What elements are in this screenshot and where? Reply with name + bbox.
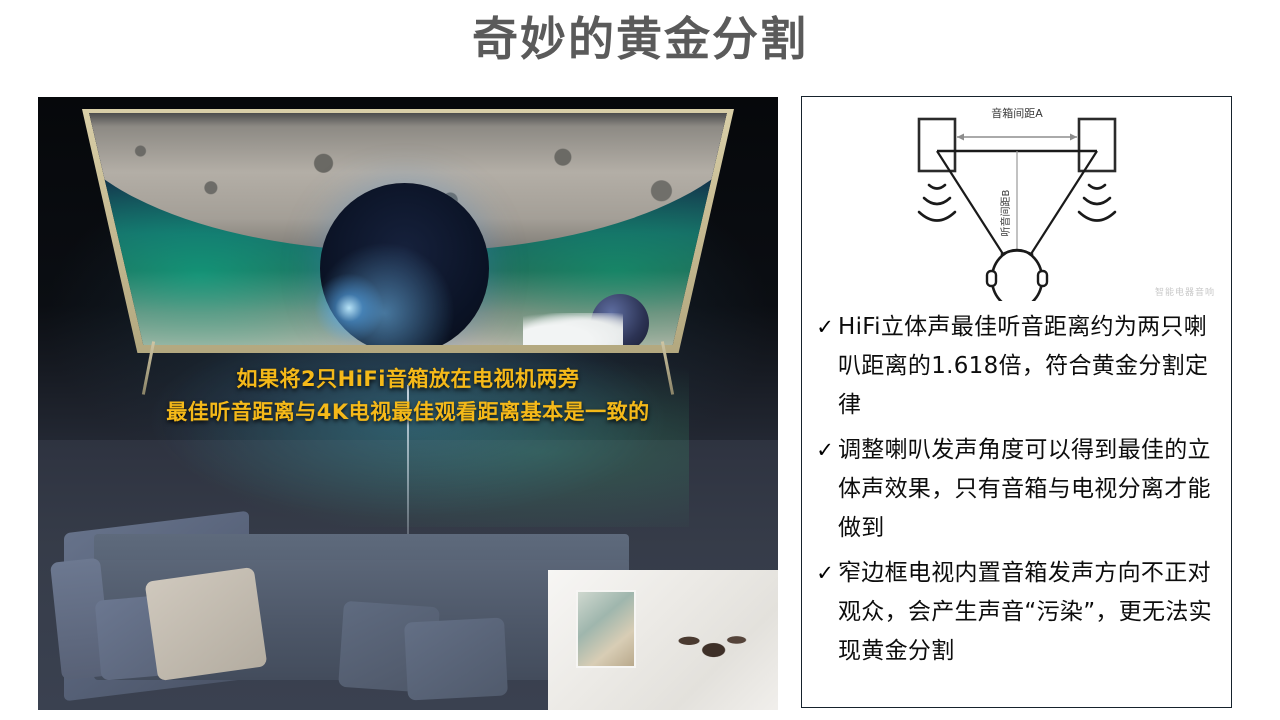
speaker-right-icon — [1079, 119, 1115, 171]
diagram-watermark: 智能电器音响 — [1155, 285, 1215, 298]
list-item: ✓ HiFi立体声最佳听音距离约为两只喇叭距离的1.618倍，符合黄金分割定律 — [812, 308, 1217, 425]
table-artwork — [576, 590, 636, 668]
table-ornament — [671, 624, 753, 666]
sound-wave-left-icon — [919, 185, 955, 221]
diagram-wrap: 音箱间距A 听音间距B 智能电器音响 — [802, 97, 1231, 302]
check-icon: ✓ — [812, 431, 838, 470]
dimension-label-b: 听音间距B — [999, 189, 1012, 236]
bullet-list: ✓ HiFi立体声最佳听音距离约为两只喇叭距离的1.618倍，符合黄金分割定律 … — [802, 302, 1231, 671]
check-icon: ✓ — [812, 308, 838, 347]
television — [82, 109, 734, 379]
bullet-text: 调整喇叭发声角度可以得到最佳的立体声效果，只有音箱与电视分离才能做到 — [838, 431, 1217, 548]
stereo-listening-triangle-diagram: 音箱间距A 听音间距B — [867, 101, 1167, 301]
page-title: 奇妙的黄金分割 — [0, 8, 1280, 70]
photo-caption: 如果将2只HiFi音箱放在电视机两旁 最佳听音距离与4K电视最佳观看距离基本是一… — [38, 363, 778, 429]
speaker-left-icon — [919, 119, 955, 171]
list-item: ✓ 窄边框电视内置音箱发声方向不正对观众，会产生声音“污染”，更无法实现黄金分割 — [812, 554, 1217, 671]
tv-screen — [82, 113, 734, 345]
light-flare — [314, 273, 384, 343]
arrow-head-a-left — [957, 134, 964, 141]
living-room-tv-photo: 如果将2只HiFi音箱放在电视机两旁 最佳听音距离与4K电视最佳观看距离基本是一… — [38, 97, 778, 710]
photo-caption-line-2: 最佳听音距离与4K电视最佳观看距离基本是一致的 — [38, 396, 778, 429]
info-panel: 音箱间距A 听音间距B 智能电器音响 ✓ HiFi立体声最佳听音距离约为两只喇叭… — [801, 96, 1232, 708]
listener-icon — [987, 250, 1047, 301]
photo-caption-line-1: 如果将2只HiFi音箱放在电视机两旁 — [38, 363, 778, 396]
sound-wave-right-icon — [1079, 185, 1115, 221]
cushion-blue-right — [404, 617, 508, 700]
check-icon: ✓ — [812, 554, 838, 593]
list-item: ✓ 调整喇叭发声角度可以得到最佳的立体声效果，只有音箱与电视分离才能做到 — [812, 431, 1217, 548]
sofa-group — [56, 512, 768, 710]
arrow-head-a-right — [1070, 134, 1077, 141]
cushion-beige — [145, 567, 268, 681]
dimension-label-a: 音箱间距A — [991, 106, 1043, 120]
bullet-text: HiFi立体声最佳听音距离约为两只喇叭距离的1.618倍，符合黄金分割定律 — [838, 308, 1217, 425]
bullet-text: 窄边框电视内置音箱发声方向不正对观众，会产生声音“污染”，更无法实现黄金分割 — [838, 554, 1217, 671]
